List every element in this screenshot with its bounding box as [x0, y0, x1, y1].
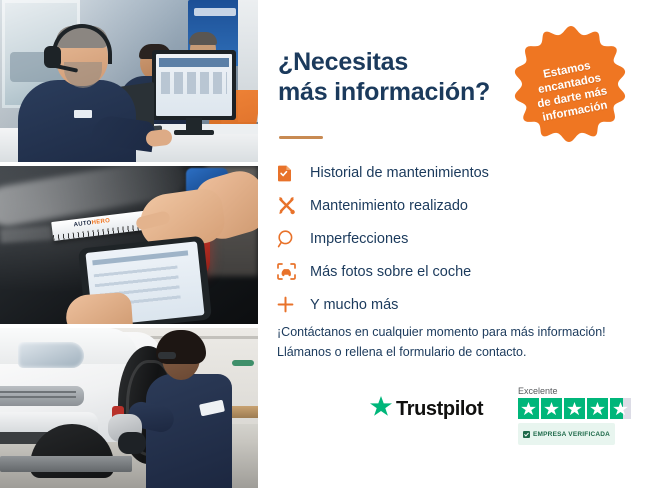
clipboard-check-icon	[276, 160, 310, 186]
contact-paragraph: ¡Contáctanos en cualquier momento para m…	[277, 322, 637, 363]
feature-label: Imperfecciones	[310, 231, 408, 247]
plus-icon	[276, 292, 310, 318]
feature-label: Mantenimiento realizado	[310, 198, 468, 214]
star-4-icon	[587, 398, 608, 419]
feature-label: Y mucho más	[310, 297, 398, 313]
star-1-icon	[518, 398, 539, 419]
inspection-ruler-photo: AUTOHERO	[0, 166, 258, 324]
verified-business-label: EMPRESA VERIFICADA	[533, 431, 610, 438]
headline-line-2: más información?	[278, 78, 508, 108]
rating-label: Excelente	[518, 386, 636, 396]
call-center-agents-photo	[0, 0, 258, 162]
promo-badge: Estamos encantados de darte más informac…	[504, 22, 638, 156]
page-title: ¿Necesitas más información?	[278, 48, 508, 107]
star-rating	[518, 398, 636, 419]
feature-item-fotos: Más fotos sobre el coche	[276, 255, 636, 288]
verified-check-icon	[523, 425, 530, 443]
trustpilot-brand-label: Trustpilot	[396, 398, 483, 421]
trustpilot-widget[interactable]: Trustpilot Excelente EMPRESA VERIFICADA	[370, 386, 636, 448]
feature-item-mantenimiento: Mantenimiento realizado	[276, 189, 636, 222]
promo-card: AUTOHERO	[0, 0, 650, 488]
paragraph-line-2: Llámanos o rellena el formulario de cont…	[277, 342, 637, 362]
headline-line-1: ¿Necesitas	[278, 48, 508, 78]
title-accent-rule	[279, 136, 323, 139]
feature-item-mas: Y mucho más	[276, 288, 636, 321]
mechanic-wheel-photo	[0, 328, 258, 488]
magnifier-icon	[276, 226, 310, 252]
feature-item-historial: Historial de mantenimientos	[276, 156, 636, 189]
feature-list: Historial de mantenimientos M	[276, 156, 636, 321]
car-photo-frame-icon	[276, 259, 310, 285]
feature-label: Más fotos sobre el coche	[310, 264, 471, 280]
star-5-icon	[610, 398, 631, 419]
star-2-icon	[541, 398, 562, 419]
verified-business-badge: EMPRESA VERIFICADA	[518, 423, 615, 445]
ruler-brand-b: HERO	[91, 218, 110, 226]
trustpilot-logo[interactable]: Trustpilot	[370, 396, 483, 422]
star-3-icon	[564, 398, 585, 419]
photo-column: AUTOHERO	[0, 0, 258, 488]
feature-item-imperfecciones: Imperfecciones	[276, 222, 636, 255]
tools-cross-icon	[276, 193, 310, 219]
paragraph-line-1: ¡Contáctanos en cualquier momento para m…	[277, 322, 637, 342]
trustpilot-rating: Excelente EMPRESA VERIFICADA	[518, 386, 636, 445]
ruler-brand-a: AUTO	[73, 220, 92, 228]
feature-label: Historial de mantenimientos	[310, 165, 489, 181]
trustpilot-star-icon	[370, 396, 392, 422]
content-panel: ¿Necesitas más información? Estamos	[258, 0, 650, 488]
